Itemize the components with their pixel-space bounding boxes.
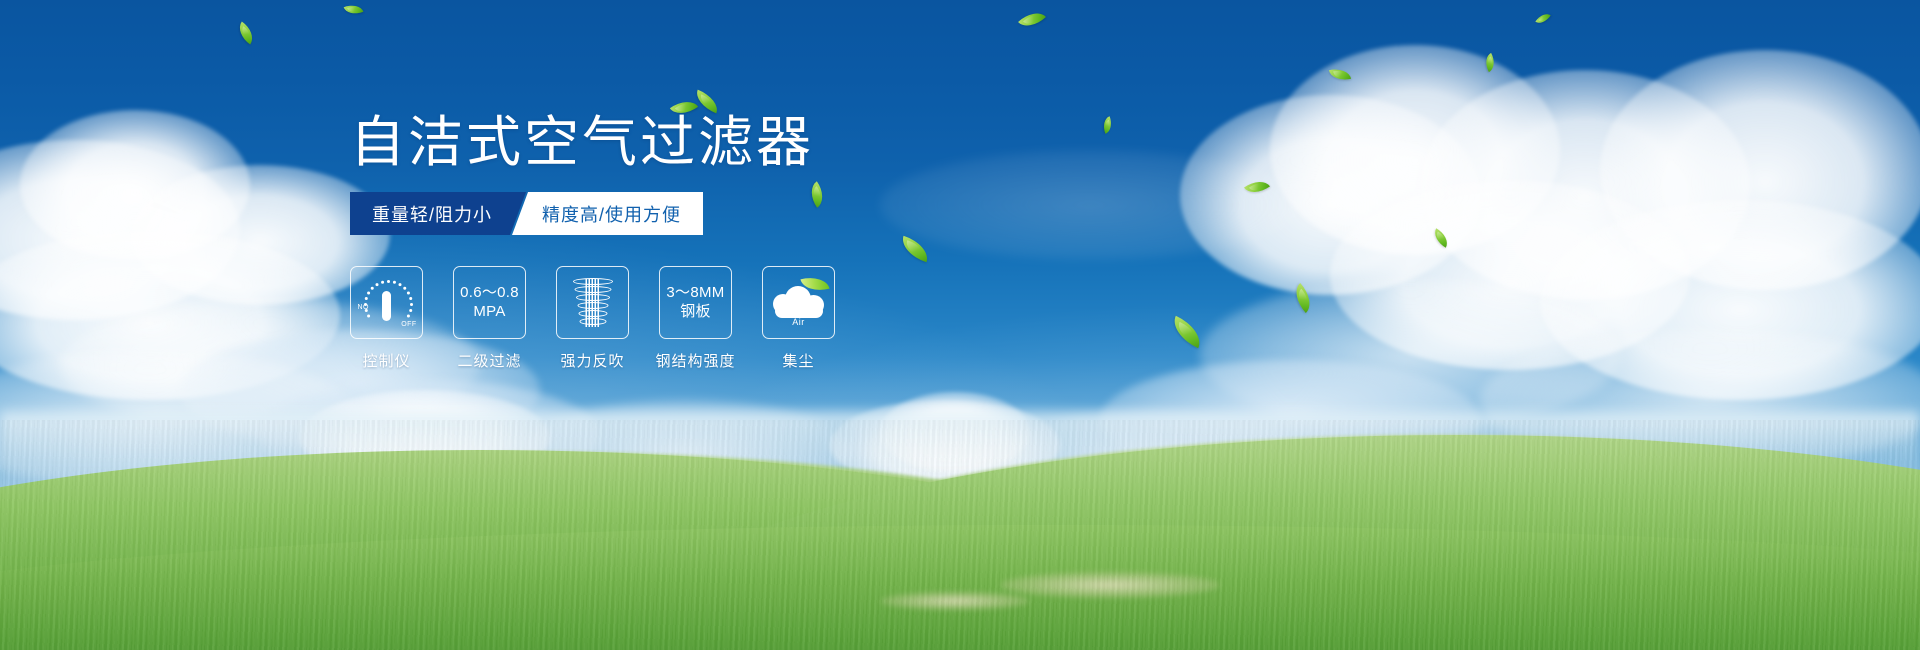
feature-controller-box[interactable]: NO OFF xyxy=(350,266,423,339)
badge-lightweight-low-resistance[interactable]: 重量轻/阻力小 xyxy=(350,192,526,235)
feature-two-stage-filter[interactable]: 0.6～0.8 MPA 二级过滤 xyxy=(453,266,526,371)
feature-controller[interactable]: NO OFF 控制仪 xyxy=(350,266,423,371)
feature-strong-blowback-label: 强力反吹 xyxy=(560,350,624,371)
feature-steel-structure[interactable]: 3～8MM 钢板 钢结构强度 xyxy=(659,266,732,371)
product-banner: 自洁式空气过滤器 重量轻/阻力小 精度高/使用方便 xyxy=(0,0,1920,650)
feature-steel-structure-box[interactable]: 3～8MM 钢板 xyxy=(659,266,732,339)
badge-group: 重量轻/阻力小 精度高/使用方便 xyxy=(350,192,703,235)
feature-dust-collection-label: 集尘 xyxy=(782,350,814,371)
air-cloud-icon: Air xyxy=(771,280,827,326)
pressure-value-line2: MPA xyxy=(473,303,505,321)
air-label: Air xyxy=(792,317,805,327)
badge-high-precision-easy-use[interactable]: 精度高/使用方便 xyxy=(512,192,703,235)
steel-value-line1: 3～8MM xyxy=(666,284,724,302)
feature-steel-structure-label: 钢结构强度 xyxy=(656,350,736,371)
gauge-on-label: NO xyxy=(358,304,369,311)
feature-two-stage-filter-label: 二级过滤 xyxy=(457,350,521,371)
feature-strong-blowback-box[interactable] xyxy=(556,266,629,339)
banner-content: 自洁式空气过滤器 重量轻/阻力小 精度高/使用方便 xyxy=(0,0,1920,650)
gauge-icon: NO OFF xyxy=(359,278,415,328)
pressure-value-line1: 0.6～0.8 xyxy=(460,284,519,302)
spiral-filter-icon xyxy=(571,277,615,329)
feature-strong-blowback[interactable]: 强力反吹 xyxy=(556,266,629,371)
gauge-needle xyxy=(382,291,391,321)
page-title: 自洁式空气过滤器 xyxy=(350,115,814,170)
feature-dust-collection-box[interactable]: Air xyxy=(762,266,835,339)
steel-value-line2: 钢板 xyxy=(680,303,711,321)
feature-controller-label: 控制仪 xyxy=(362,350,410,371)
feature-two-stage-filter-box[interactable]: 0.6～0.8 MPA xyxy=(453,266,526,339)
leaf-title-right xyxy=(692,90,722,114)
gauge-off-label: OFF xyxy=(401,321,416,328)
feature-icon-row: NO OFF 控制仪 0.6～0.8 MPA 二级过滤 xyxy=(350,266,835,371)
feature-dust-collection[interactable]: Air 集尘 xyxy=(762,266,835,371)
